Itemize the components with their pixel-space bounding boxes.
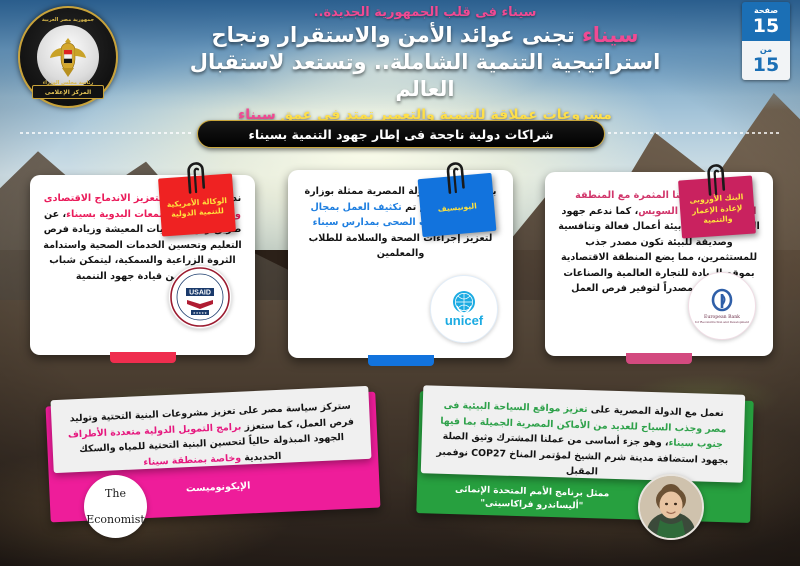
the-economist-logo-text: TheEconomist: [86, 487, 145, 526]
emblem-ribbon-text: المركز الإعلامى: [32, 85, 104, 99]
ebrd-logo: European Bank for Reconstruction and Dev…: [688, 272, 756, 340]
paperclip-icon: [703, 163, 727, 196]
page-counter: صفحة 15 من 15: [742, 2, 790, 80]
eagle-of-saladin-icon: [48, 35, 88, 79]
partner-tab-usaid: الوكالة الأمريكية للتنمية الدولية: [158, 173, 236, 236]
partner-card-ebrd-footer-bar: [626, 353, 692, 364]
partner-card-usaid-footer-bar: [110, 352, 176, 363]
svg-text:unicef: unicef: [445, 313, 484, 328]
svg-text:★★★★★: ★★★★★: [193, 311, 207, 315]
header-kicker: سيناء فى قلب الجمهورية الجديدة..: [168, 4, 682, 21]
quote-card-economist-text: ستركز سياسة مصر على تعزيز مشروعات البنية…: [51, 386, 372, 473]
svg-text:for Reconstruction and Develop: for Reconstruction and Development: [695, 320, 750, 324]
header-main-title: سيناء تجنى عوائد الأمن والاستقرار ونجاح …: [168, 22, 682, 103]
ebrd-emblem-icon: European Bank for Reconstruction and Dev…: [689, 273, 755, 339]
economist-logo-line2: Economist: [86, 513, 145, 526]
unicef-emblem-icon: unicef: [431, 276, 497, 342]
partner-tab-ebrd: البنك الأوروبى لإعادة الإعمار والتنمية: [678, 175, 756, 238]
header-title-highlight: سيناء: [582, 23, 638, 47]
partner-tab-unicef: اليونيسيف: [418, 173, 497, 237]
partner-tab-ebrd-label: البنك الأوروبى لإعادة الإعمار والتنمية: [684, 192, 750, 228]
banner-divider-right: [608, 132, 780, 134]
usaid-logo: USAID ★★★★★: [168, 265, 232, 329]
section-banner: شراكات دولية ناجحة فى إطار جهود التنمية …: [197, 120, 605, 148]
section-banner-text: شراكات دولية ناجحة فى إطار جهود التنمية …: [248, 127, 553, 142]
paperclip-icon: [442, 161, 467, 195]
undp-text-part1: نعمل مع الدولة المصرية على: [587, 404, 723, 419]
paperclip-icon: [183, 161, 207, 194]
banner-divider-left: [20, 132, 192, 134]
header-title-block: سيناء فى قلب الجمهورية الجديدة.. سيناء ت…: [168, 4, 682, 125]
infographic-page: جمهورية مصر العربية رئاسة مجلس الوزراء ا…: [0, 0, 800, 566]
partner-card-unicef-footer-bar: [368, 355, 434, 366]
page-counter-total: من 15: [742, 41, 790, 80]
state-information-service-emblem: جمهورية مصر العربية رئاسة مجلس الوزراء ا…: [18, 6, 118, 108]
quote-card-undp-text: نعمل مع الدولة المصرية على تعزيز مواقع ا…: [421, 385, 745, 483]
usaid-seal-icon: USAID ★★★★★: [169, 266, 231, 328]
economist-text-highlight2: وخاصة بمنطقة سيناء: [143, 452, 241, 467]
portrait-photo: [640, 476, 702, 538]
page-counter-current-number: 15: [742, 16, 790, 36]
page-counter-total-number: 15: [742, 55, 790, 75]
partner-tab-usaid-label: الوكالة الأمريكية للتنمية الدولية: [165, 195, 230, 220]
undp-representative-portrait: [638, 474, 704, 540]
partner-tab-unicef-label: اليونيسيف: [437, 201, 477, 215]
emblem-top-text: جمهورية مصر العربية: [20, 17, 116, 23]
unicef-text-part2: لتعزيز إجراءات الصحة والسلامة للطلاب وال…: [309, 233, 493, 260]
page-counter-current: صفحة 15: [742, 2, 790, 41]
svg-text:USAID: USAID: [189, 290, 211, 297]
economist-logo-line1: The: [86, 487, 145, 500]
the-economist-logo: TheEconomist: [84, 475, 147, 538]
unicef-logo: unicef: [430, 275, 498, 343]
